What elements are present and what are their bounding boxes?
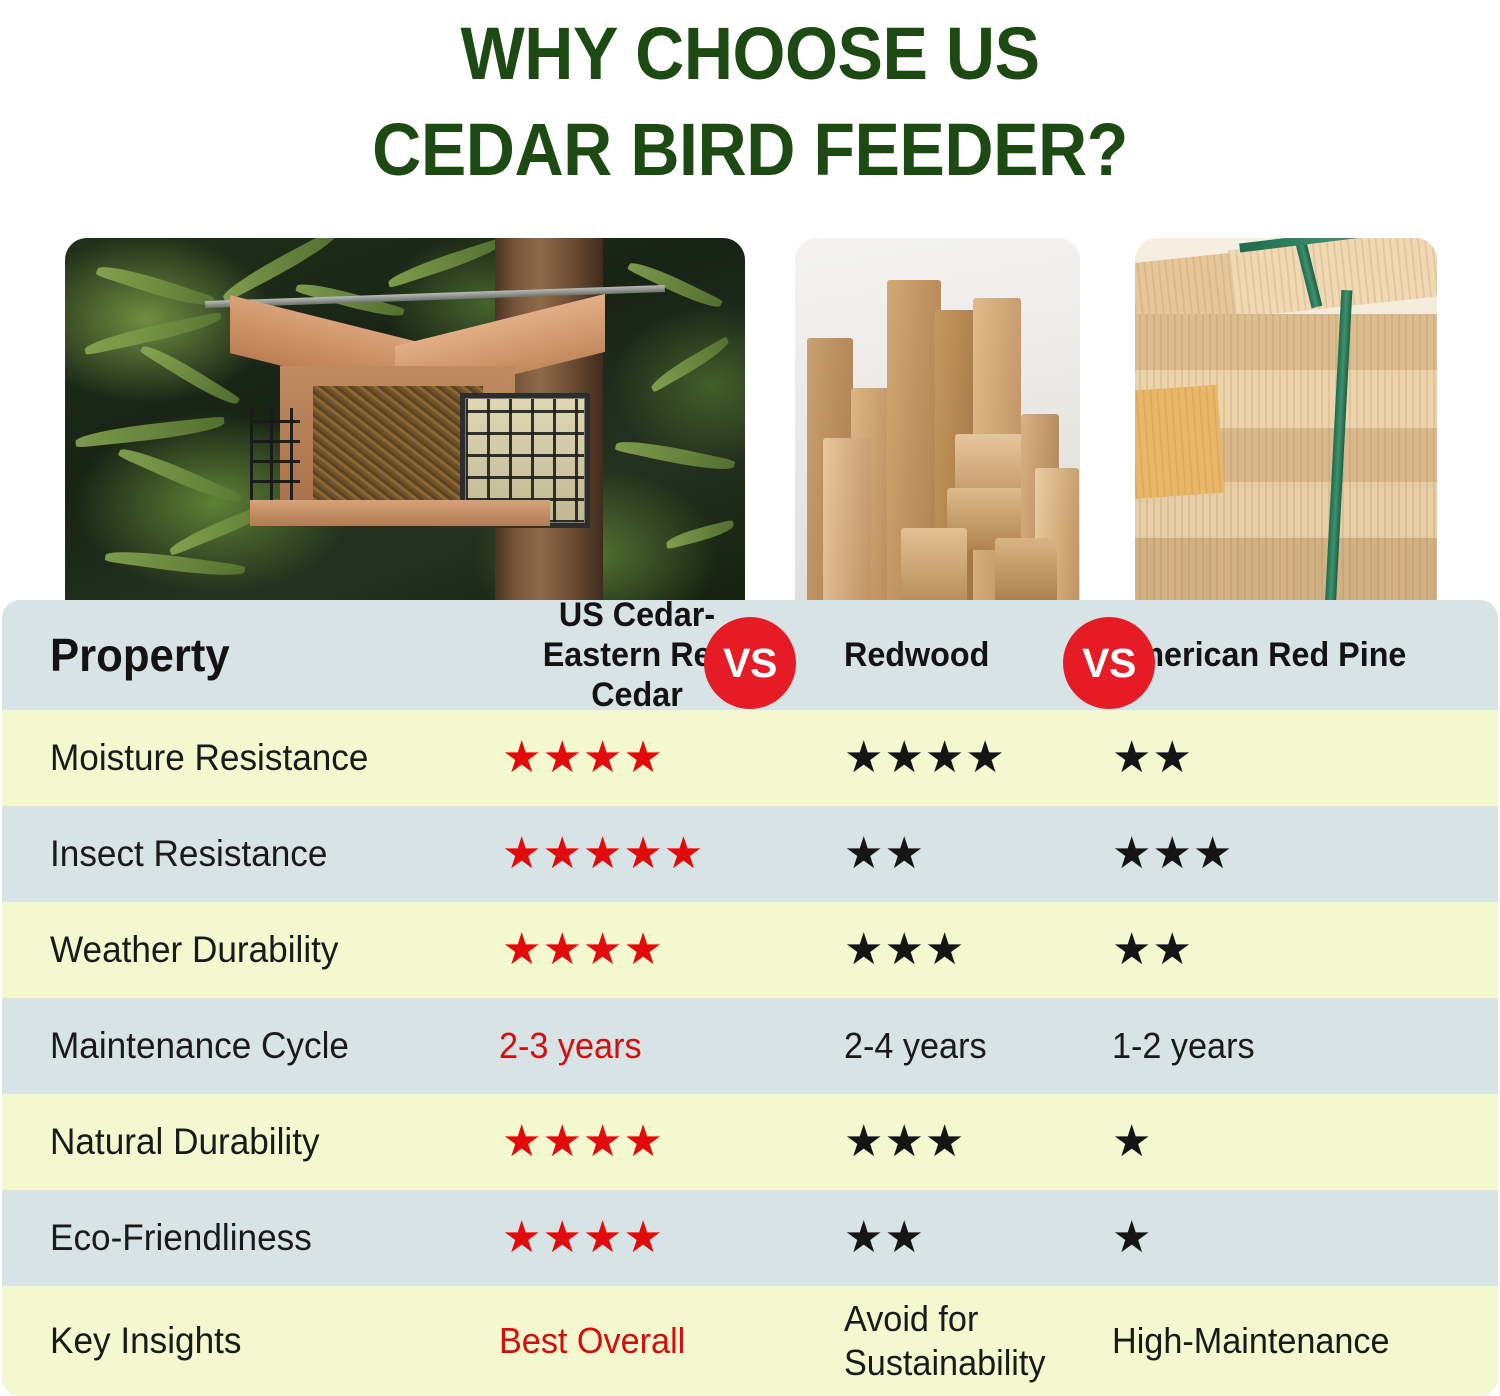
rating-stars-cedar: ★★★★★ <box>442 832 832 876</box>
row-property-label: Key Insights <box>50 1320 422 1362</box>
row-property-label: Weather Durability <box>50 929 422 971</box>
row-redwood-cell: Avoid for Sustainability <box>832 1297 1100 1385</box>
table-row: Natural Durability ★★★★ ★★★ ★ <box>2 1094 1498 1190</box>
table-row: Key Insights Best Overall Avoid for Sust… <box>2 1286 1498 1396</box>
row-property-cell: Natural Durability <box>2 1121 442 1163</box>
row-property-label: Eco-Friendliness <box>50 1217 422 1259</box>
header-label-pine: American Red Pine <box>1112 635 1479 675</box>
rating-stars-redwood: ★★★★ <box>844 736 1100 780</box>
row-property-cell: Weather Durability <box>2 929 442 971</box>
header-cell-property: Property <box>2 628 442 682</box>
header-label-property: Property <box>50 628 422 682</box>
row-redwood-cell: ★★ <box>832 832 1100 876</box>
rating-stars-pine: ★ <box>1112 1216 1498 1260</box>
row-redwood-cell: ★★ <box>832 1216 1100 1260</box>
page-title-line-2: CEDAR BIRD FEEDER? <box>60 102 1440 198</box>
row-property-cell: Key Insights <box>2 1320 442 1362</box>
header-cell-redwood: Redwood <box>832 635 1100 675</box>
rating-stars-redwood: ★★★ <box>844 928 1100 972</box>
row-pine-cell: ★★★ <box>1100 832 1498 876</box>
row-cedar-cell: ★★★★ <box>442 1216 832 1260</box>
wood-comparison-table: Property US Cedar-Eastern Red Cedar Redw… <box>2 600 1498 1396</box>
comparison-photo-strip: VS VS <box>0 238 1500 606</box>
rating-stars-pine: ★★ <box>1112 736 1498 780</box>
row-cedar-cell: 2-3 years <box>442 1024 832 1068</box>
row-redwood-cell: ★★★★ <box>832 736 1100 780</box>
row-cedar-cell: ★★★★ <box>442 1120 832 1164</box>
rating-stars-cedar: ★★★★ <box>442 1216 832 1260</box>
value-pine: 1-2 years <box>1112 1024 1479 1068</box>
row-redwood-cell: 2-4 years <box>832 1024 1100 1068</box>
cedar-bird-feeder-photo <box>65 238 745 606</box>
value-cedar: 2-3 years <box>442 1024 813 1068</box>
value-cedar: Best Overall <box>442 1319 813 1363</box>
row-property-cell: Maintenance Cycle <box>2 1025 442 1067</box>
row-pine-cell: ★★ <box>1100 928 1498 972</box>
row-cedar-cell: Best Overall <box>442 1319 832 1363</box>
row-pine-cell: ★ <box>1100 1216 1498 1260</box>
row-property-cell: Moisture Resistance <box>2 737 442 779</box>
row-property-cell: Insect Resistance <box>2 833 442 875</box>
header-label-redwood: Redwood <box>844 635 1087 675</box>
value-redwood: 2-4 years <box>844 1024 1087 1068</box>
row-pine-cell: High-Maintenance <box>1100 1319 1498 1363</box>
header-cell-pine: American Red Pine <box>1100 635 1498 675</box>
rating-stars-redwood: ★★ <box>844 832 1100 876</box>
row-cedar-cell: ★★★★ <box>442 736 832 780</box>
vs-badge-2: VS <box>1063 617 1155 709</box>
row-cedar-cell: ★★★★★ <box>442 832 832 876</box>
rating-stars-cedar: ★★★★ <box>442 736 832 780</box>
vs-badge-1: VS <box>704 617 796 709</box>
row-pine-cell: ★ <box>1100 1120 1498 1164</box>
table-row: Weather Durability ★★★★ ★★★ ★★ <box>2 902 1498 998</box>
rating-stars-cedar: ★★★★ <box>442 1120 832 1164</box>
value-redwood: Avoid for Sustainability <box>844 1297 1087 1385</box>
row-redwood-cell: ★★★ <box>832 1120 1100 1164</box>
row-cedar-cell: ★★★★ <box>442 928 832 972</box>
table-row: Moisture Resistance ★★★★ ★★★★ ★★ <box>2 710 1498 806</box>
rating-stars-redwood: ★★★ <box>844 1120 1100 1164</box>
rating-stars-cedar: ★★★★ <box>442 928 832 972</box>
rating-stars-pine: ★★ <box>1112 928 1498 972</box>
row-property-cell: Eco-Friendliness <box>2 1217 442 1259</box>
row-pine-cell: ★★ <box>1100 736 1498 780</box>
row-pine-cell: 1-2 years <box>1100 1024 1498 1068</box>
row-property-label: Insect Resistance <box>50 833 422 875</box>
row-redwood-cell: ★★★ <box>832 928 1100 972</box>
table-row: Insect Resistance ★★★★★ ★★ ★★★ <box>2 806 1498 902</box>
row-property-label: Natural Durability <box>50 1121 422 1163</box>
american-red-pine-lumber-photo <box>1135 238 1437 606</box>
table-row: Maintenance Cycle 2-3 years 2-4 years 1-… <box>2 998 1498 1094</box>
redwood-logs-photo <box>795 238 1080 606</box>
table-row: Eco-Friendliness ★★★★ ★★ ★ <box>2 1190 1498 1286</box>
page-title-line-1: WHY CHOOSE US <box>60 6 1440 102</box>
row-property-label: Maintenance Cycle <box>50 1025 422 1067</box>
row-property-label: Moisture Resistance <box>50 737 422 779</box>
rating-stars-redwood: ★★ <box>844 1216 1100 1260</box>
rating-stars-pine: ★★★ <box>1112 832 1498 876</box>
page-title: WHY CHOOSE US CEDAR BIRD FEEDER? <box>0 0 1500 198</box>
rating-stars-pine: ★ <box>1112 1120 1498 1164</box>
value-pine: High-Maintenance <box>1112 1319 1479 1363</box>
